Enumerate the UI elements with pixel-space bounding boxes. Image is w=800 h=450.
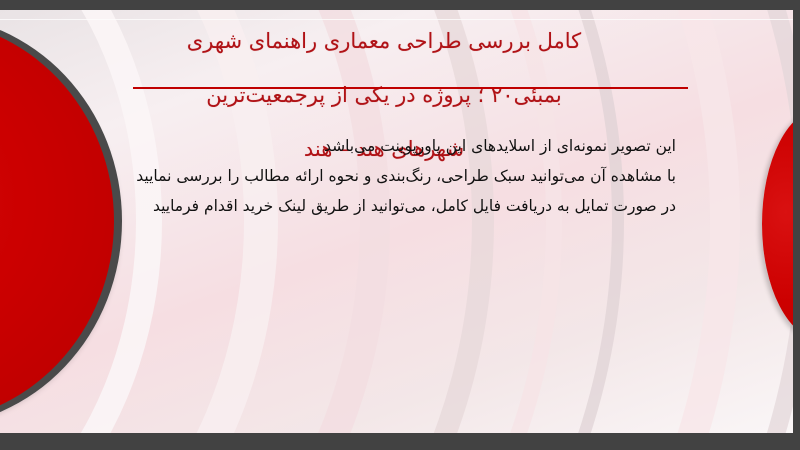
frame-right-bar: [793, 0, 800, 450]
body-line-2: با مشاهده آن می‌توانید سبک طراحی، رنگ‌بن…: [56, 161, 676, 191]
slide-content-area: کامل بررسی طراحی معماری راهنمای شهری بمب…: [0, 9, 794, 433]
slide-canvas: کامل بررسی طراحی معماری راهنمای شهری بمب…: [0, 0, 800, 450]
frame-hairline-top: [0, 19, 794, 20]
frame-bottom-bar: [0, 433, 800, 450]
body-line-1: این تصویر نمونه‌ای از اسلایدهای این پاور…: [56, 131, 676, 161]
slide-body-text: این تصویر نمونه‌ای از اسلایدهای این پاور…: [56, 131, 676, 221]
slide-title-line-1: کامل بررسی طراحی معماری راهنمای شهری: [84, 28, 684, 55]
frame-top-bar: [0, 0, 800, 10]
body-line-3: در صورت تمایل به دریافت فایل کامل، می‌تو…: [56, 191, 676, 221]
red-horizontal-rule: [133, 87, 688, 89]
